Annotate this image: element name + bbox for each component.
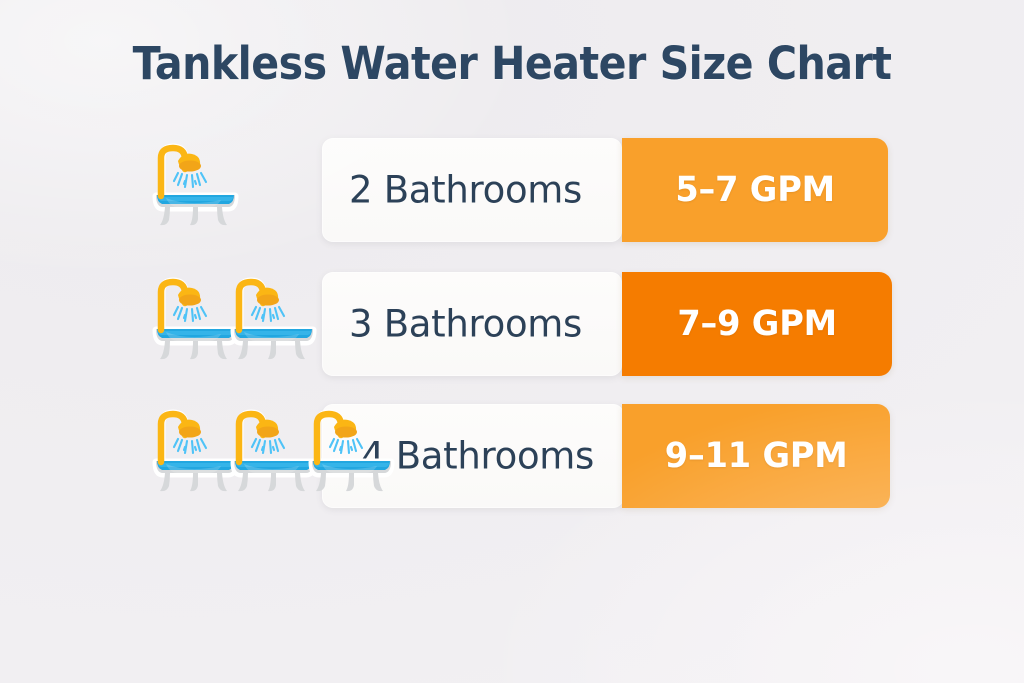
bathtub-icon xyxy=(230,404,317,512)
bathtub-with-shower-icon xyxy=(230,272,317,380)
bathtub-with-shower-icon xyxy=(308,404,395,512)
size-chart-rows: 2 Bathrooms 5–7 GPM xyxy=(0,0,1024,683)
table-row: 3 Bathrooms 7–9 GPM xyxy=(0,268,1024,380)
bathtub-with-shower-icon xyxy=(152,272,239,380)
bathtub-with-shower-icon xyxy=(152,404,239,512)
bathroom-count-label: 2 Bathrooms xyxy=(349,169,582,212)
infographic-canvas: Tankless Water Heater Size Chart xyxy=(0,0,1024,683)
table-row: 4 Bathrooms 9–11 GPM xyxy=(0,400,1024,512)
gpm-badge: 5–7 GPM xyxy=(622,138,888,242)
bathroom-count-label: 4 Bathrooms xyxy=(361,435,594,478)
bathroom-count-label: 3 Bathrooms xyxy=(349,303,582,346)
bathtub-icon xyxy=(308,404,395,512)
table-row: 2 Bathrooms 5–7 GPM xyxy=(0,134,1024,246)
bathtub-icon xyxy=(152,138,239,246)
bathtub-icon xyxy=(152,404,239,512)
gpm-value: 7–9 GPM xyxy=(677,304,837,344)
bathtub-icon-group-3 xyxy=(152,400,386,512)
gpm-badge: 7–9 GPM xyxy=(622,272,892,376)
bathtub-icon-group-2 xyxy=(152,268,308,380)
bathtub-icon xyxy=(230,272,317,380)
gpm-value: 9–11 GPM xyxy=(665,436,848,476)
bathtub-with-shower-icon xyxy=(152,138,239,246)
gpm-value: 5–7 GPM xyxy=(675,170,835,210)
bathtub-icon xyxy=(152,272,239,380)
gpm-badge: 9–11 GPM xyxy=(622,404,890,508)
bathtub-with-shower-icon xyxy=(230,404,317,512)
bathtub-icon-group-1 xyxy=(152,134,230,246)
page-title: Tankless Water Heater Size Chart xyxy=(44,37,981,90)
